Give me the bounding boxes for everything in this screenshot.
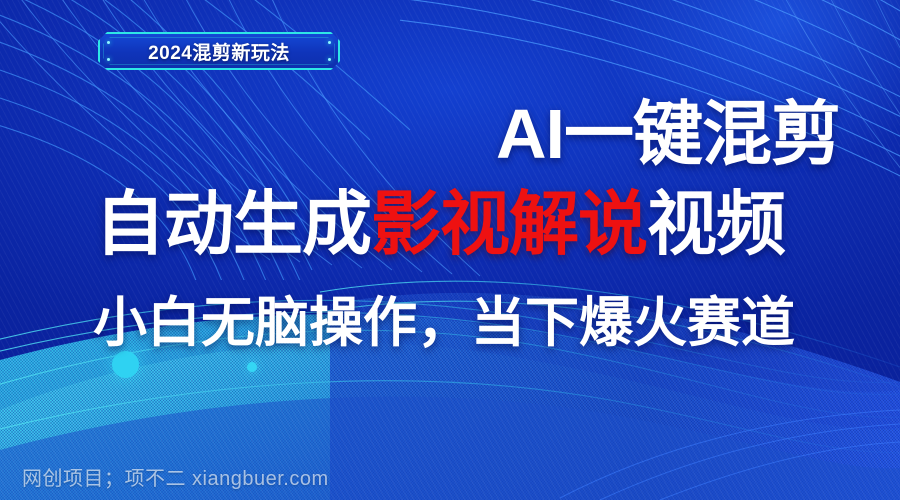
headline-line-2: 自动生成影视解说视频 (95, 186, 785, 262)
headline-line-2-part-b: 视频 (647, 185, 785, 263)
accent-circle-large (112, 351, 139, 378)
headline-line-2-part-a: 自动生成 (95, 185, 371, 263)
badge-label: 2024混剪新玩法 (98, 32, 340, 70)
bottom-wave-decoration (0, 240, 900, 500)
headline-line-2-highlight: 影视解说 (371, 185, 647, 263)
footer-watermark: 网创项目；项不二 xiangbuer.com (22, 462, 329, 491)
headline-line-1: AI一键混剪 (496, 96, 840, 172)
accent-circle-small (247, 362, 257, 372)
promo-poster: 2024混剪新玩法 AI一键混剪 自动生成影视解说视频 小白无脑操作，当下爆火赛… (0, 0, 900, 500)
headline-line-3: 小白无脑操作，当下爆火赛道 (93, 293, 795, 353)
top-badge: 2024混剪新玩法 (98, 32, 340, 70)
